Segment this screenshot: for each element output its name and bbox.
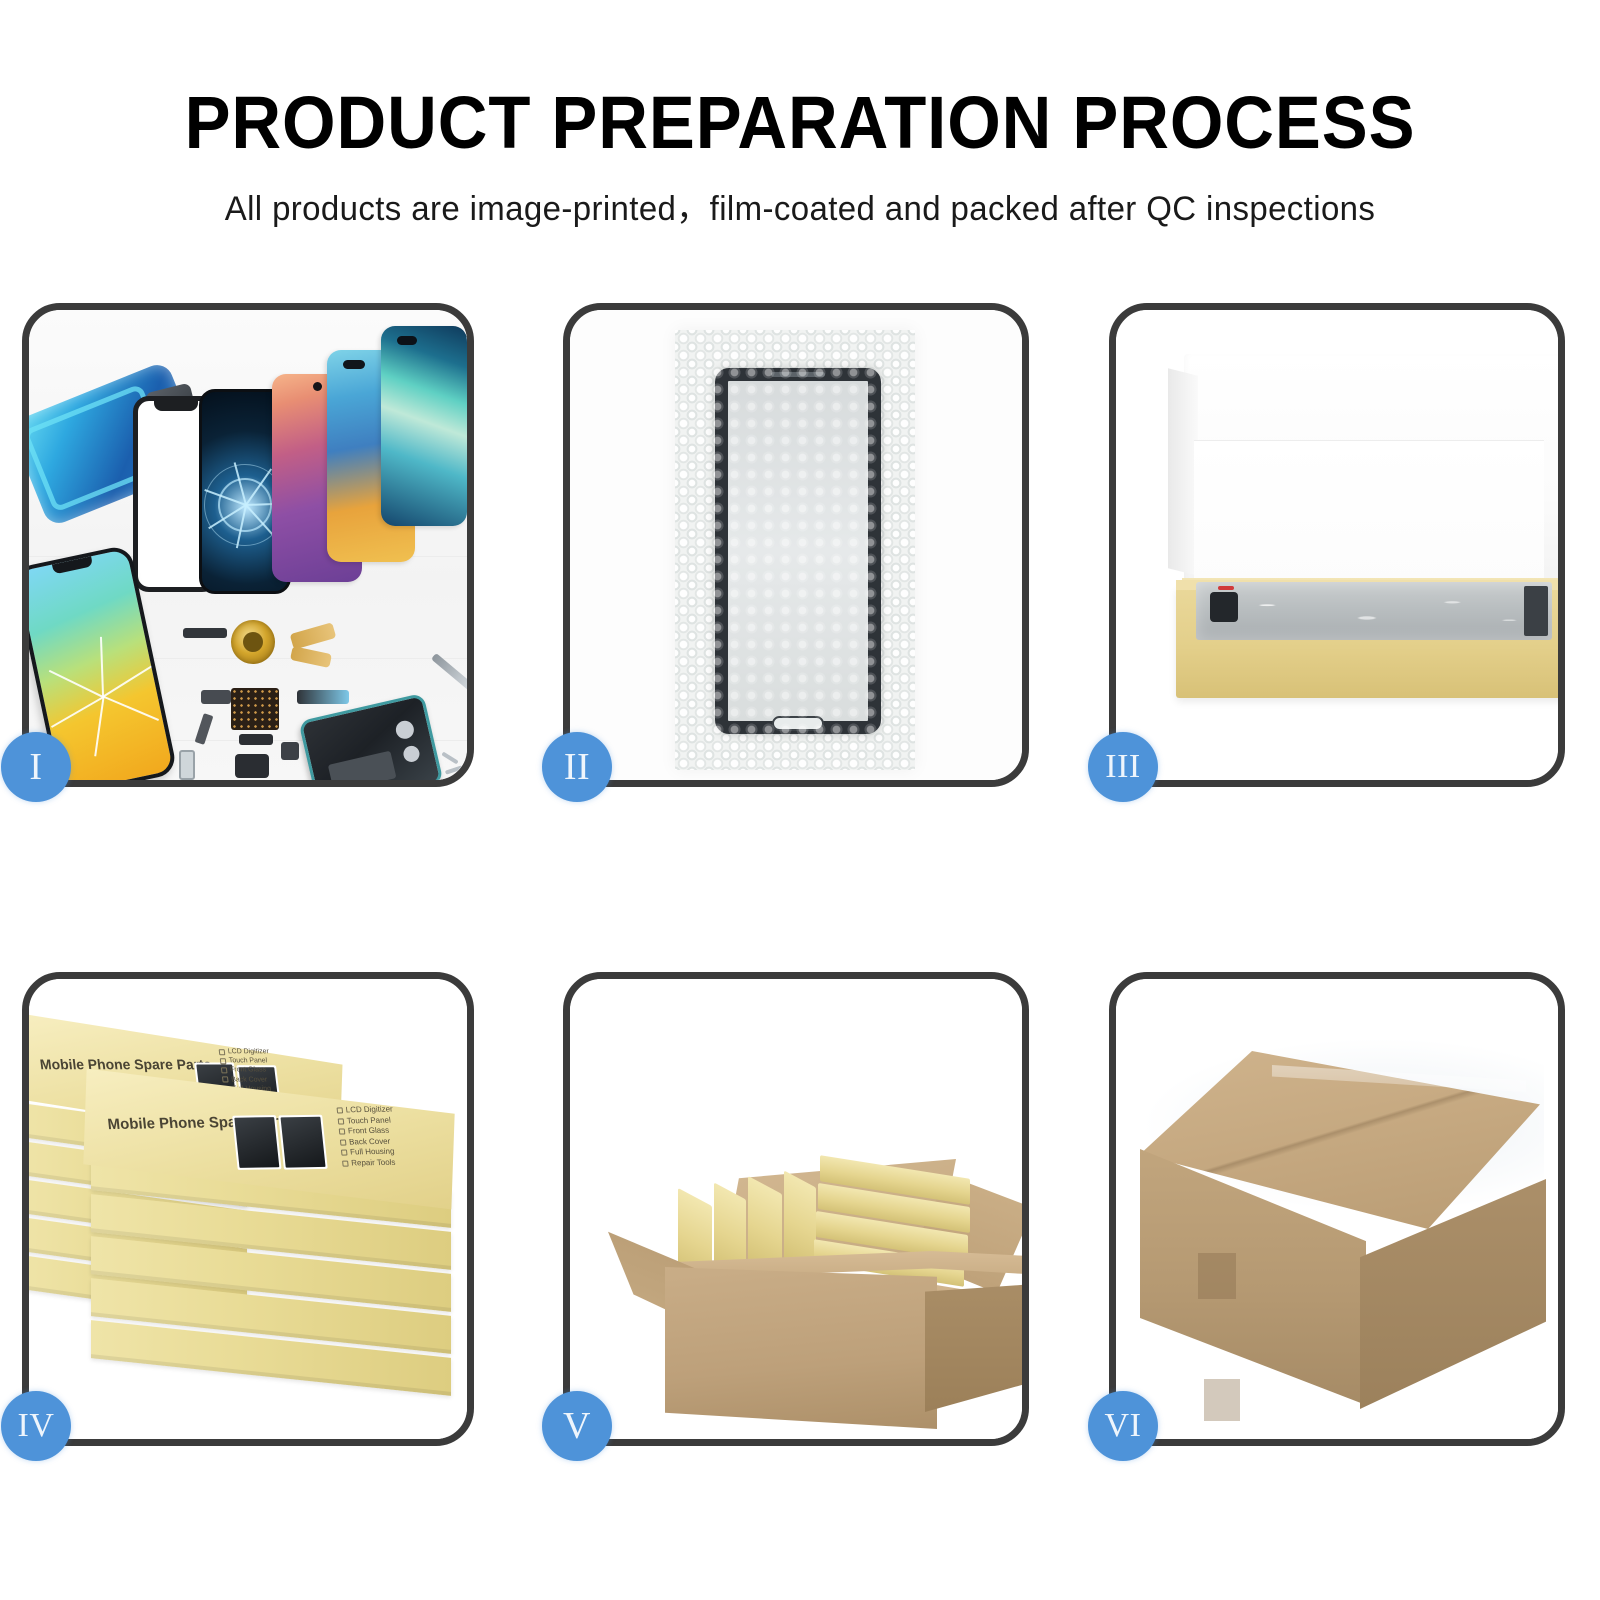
back-housing-part — [298, 693, 443, 780]
step-panel-5[interactable]: V — [563, 972, 1029, 1446]
carton-flap-tab-upper — [1198, 1253, 1236, 1299]
phone-display-teal — [381, 326, 467, 526]
step-panel-4[interactable]: Mobile Phone Spare Parts LCD Digitizer T… — [22, 972, 474, 1446]
box-brand-label-back: Mobile Phone Spare Parts — [39, 1056, 212, 1072]
step-badge-1: I — [1, 732, 71, 802]
step-badge-3: III — [1088, 732, 1158, 802]
speaker-mesh-part — [183, 628, 227, 638]
sealed-carton — [1116, 979, 1558, 1439]
step-badge-2: II — [542, 732, 612, 802]
small-component-c — [239, 734, 273, 745]
product-preparation-infographic: PRODUCT PREPARATION PROCESS All products… — [0, 0, 1600, 1600]
phone-parts-collage — [29, 310, 467, 780]
carton-flap-tab-lower — [1204, 1379, 1240, 1421]
wireless-charging-coil-part — [231, 620, 275, 664]
step-panel-1[interactable]: I — [22, 303, 474, 787]
inner-box-open — [1116, 310, 1558, 780]
sim-tray-part — [179, 750, 195, 780]
step-badge-4: IV — [1, 1391, 71, 1461]
page-subtitle: All products are image-printed，film-coat… — [24, 160, 1576, 226]
wrapped-screen-in-box — [1196, 582, 1552, 640]
step-1-image — [29, 310, 467, 780]
carton-front-face — [665, 1267, 937, 1429]
step-5-image — [570, 979, 1022, 1439]
page-title: PRODUCT PREPARATION PROCESS — [56, 0, 1544, 160]
small-component-e — [281, 742, 299, 760]
step-6-image — [1116, 979, 1558, 1439]
step-badge-6: VI — [1088, 1391, 1158, 1461]
step-2-image — [570, 310, 1022, 780]
box-inner-wall — [1194, 440, 1544, 600]
step-4-image: Mobile Phone Spare Parts LCD Digitizer T… — [29, 979, 467, 1439]
flex-cable-part-b — [290, 646, 332, 668]
header: PRODUCT PREPARATION PROCESS All products… — [0, 0, 1600, 226]
box-thumb-front-1 — [232, 1115, 281, 1170]
tweezers-tool — [431, 653, 467, 695]
small-component-d — [235, 754, 269, 778]
step-panel-3[interactable]: III — [1109, 303, 1565, 787]
step-panel-6[interactable]: VI — [1109, 972, 1565, 1446]
bubble-wrapped-screen — [570, 310, 1022, 780]
ic-chip-part — [231, 688, 279, 730]
stacked-retail-boxes: Mobile Phone Spare Parts LCD Digitizer T… — [29, 979, 467, 1439]
step-3-image — [1116, 310, 1558, 780]
box-thumb-front-2 — [278, 1115, 327, 1170]
screws-part — [441, 756, 467, 778]
carton-being-filled — [570, 979, 1022, 1439]
flex-cable-part-c — [297, 690, 349, 704]
carton-side-face — [925, 1284, 1022, 1412]
small-component-a — [201, 690, 231, 704]
bubble-wrap-overlay — [675, 330, 915, 770]
flex-cable-part-a — [290, 622, 337, 650]
step-panel-2[interactable]: II — [563, 303, 1029, 787]
step-badge-5: V — [542, 1391, 612, 1461]
box-checklist-front: LCD Digitizer Touch Panel Front Glass Ba… — [336, 1105, 398, 1169]
